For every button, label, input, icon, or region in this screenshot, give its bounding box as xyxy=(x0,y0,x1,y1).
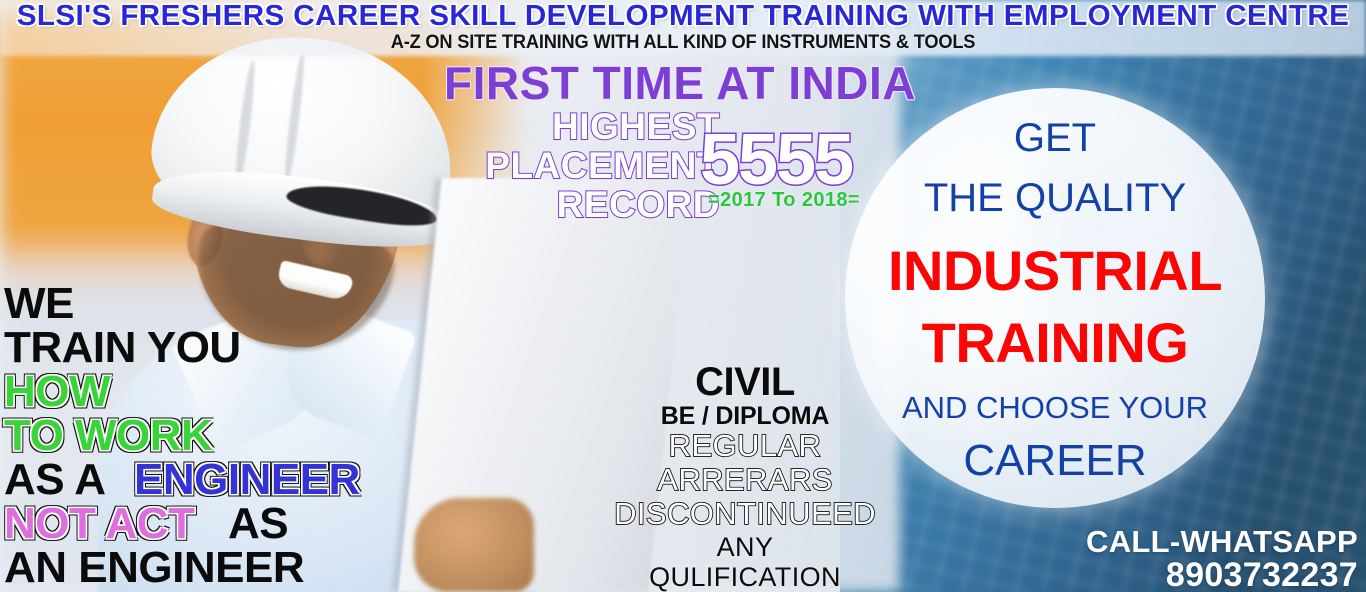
circle-training: TRAINING xyxy=(845,310,1265,375)
course-row-qulification: QULIFICATION xyxy=(595,562,895,592)
slogan-word-not-act: NOT ACT xyxy=(4,502,194,546)
circle-career: CAREER xyxy=(845,436,1265,486)
first-time-at-india: FIRST TIME AT INDIA xyxy=(420,60,940,106)
slogan-line-train-you: TRAIN YOU xyxy=(4,326,241,370)
promotional-banner: SLSI'S FRESHERS CAREER SKILL DEVELOPMENT… xyxy=(0,0,1366,592)
page-subtitle: A-Z ON SITE TRAINING WITH ALL KIND OF IN… xyxy=(27,33,1338,52)
slogan-word-as: AS xyxy=(228,502,288,546)
course-row-any: ANY xyxy=(595,532,895,562)
circle-the-quality: THE QUALITY xyxy=(845,176,1265,221)
circle-industrial: INDUSTRIAL xyxy=(845,238,1265,303)
slogan-line-as-a: AS A xyxy=(4,458,106,502)
slogan-line-we: WE xyxy=(4,282,74,326)
placement-label: PLACEMENT xyxy=(400,147,720,184)
highest-label: HIGHEST xyxy=(400,108,720,145)
slogan-word-engineer: ENGINEER xyxy=(134,458,360,502)
call-whatsapp-label[interactable]: CALL-WHATSAPP xyxy=(1086,524,1358,560)
placement-count: 5555 xyxy=(700,124,852,196)
circle-get: GET xyxy=(845,116,1265,161)
course-row-discontinueed: DISCONTINUEED xyxy=(595,497,895,531)
slogan-line-an-engineer: AN ENGINEER xyxy=(4,546,304,590)
placement-years: =2017 To 2018= xyxy=(708,190,860,210)
phone-number[interactable]: 8903732237 xyxy=(1166,556,1358,592)
hand xyxy=(414,498,534,592)
slogan-line-how: HOW xyxy=(4,370,110,414)
circle-and-choose: AND CHOOSE YOUR xyxy=(845,390,1265,426)
page-title: SLSI'S FRESHERS CAREER SKILL DEVELOPMENT… xyxy=(0,2,1366,31)
record-label: RECORD xyxy=(400,186,720,223)
slogan-line-to-work: TO WORK xyxy=(4,414,212,458)
